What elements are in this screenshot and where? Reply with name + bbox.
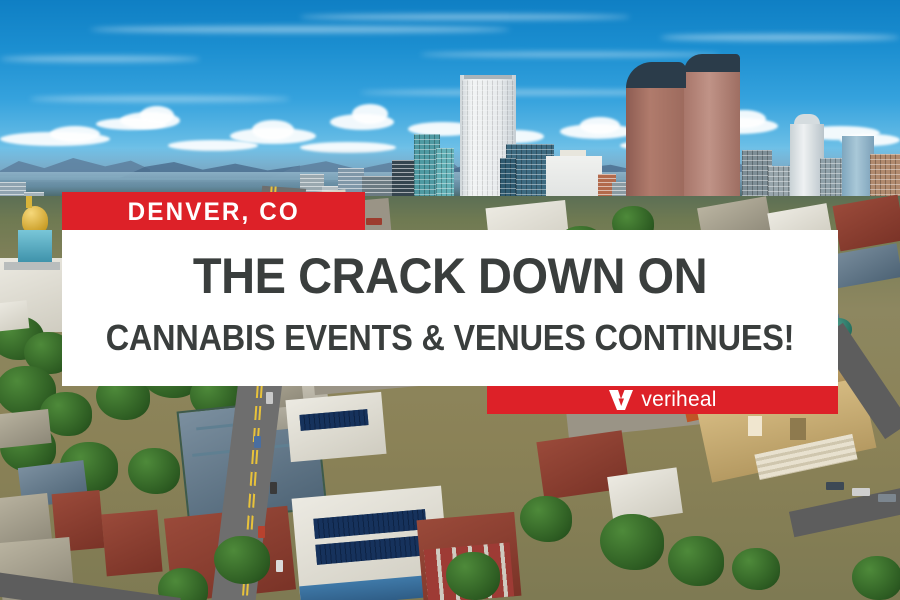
location-tag-label: DENVER, CO bbox=[127, 198, 299, 227]
brand-name-label: veriheal bbox=[641, 388, 716, 412]
location-tag-banner: DENVER, CO bbox=[62, 192, 365, 232]
veriheal-v-logo-icon bbox=[608, 389, 634, 411]
headline-primary: THE CRACK DOWN ON bbox=[85, 250, 814, 302]
brand-logo-bar: veriheal bbox=[487, 386, 838, 414]
promotional-graphic: DENVER, CO THE CRACK DOWN ON CANNABIS EV… bbox=[0, 0, 900, 600]
headline-card: THE CRACK DOWN ON CANNABIS EVENTS & VENU… bbox=[62, 230, 838, 386]
headline-secondary: CANNABIS EVENTS & VENUES CONTINUES! bbox=[101, 318, 799, 358]
